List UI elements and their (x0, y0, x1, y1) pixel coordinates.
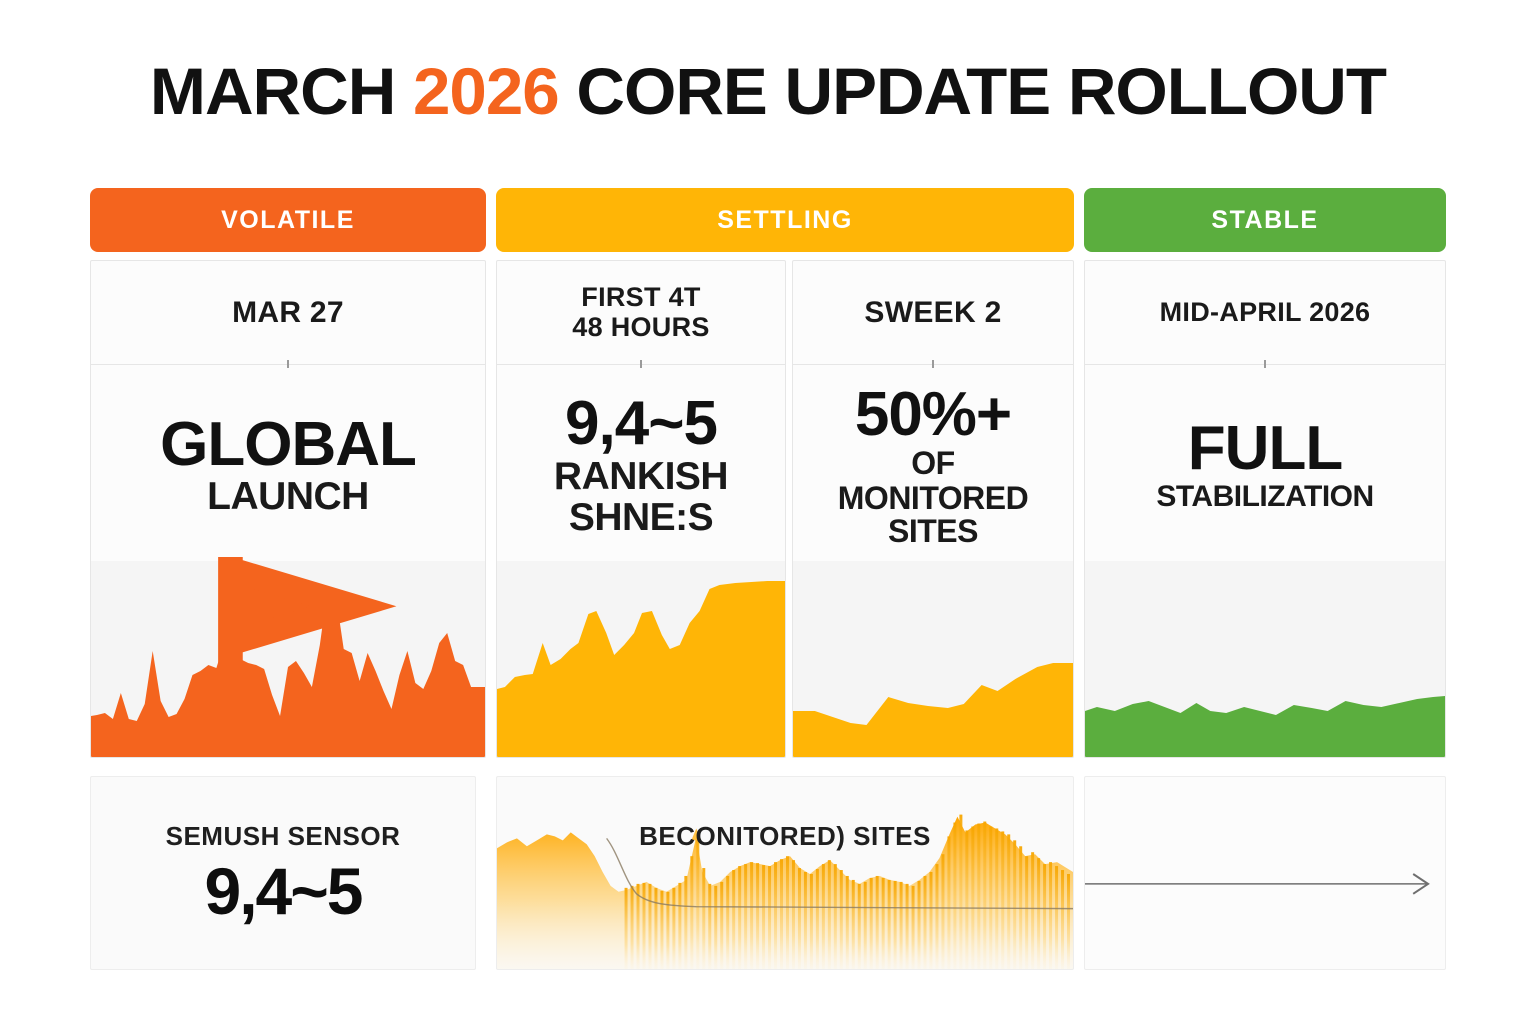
volatile-sparkline (91, 561, 485, 758)
title-part-1: MARCH (150, 54, 413, 128)
column-first-48-hours[interactable]: FIRST 4T 48 HOURS 9,4~5 RANKISH SHNE:S (496, 260, 786, 758)
column-metric-primary: 50%+ (855, 385, 1011, 446)
column-date-cell: SWEEK 2 (793, 261, 1073, 365)
phase-pill-settling-label: SETTLING (717, 206, 853, 235)
bottom-card-title: SEMUSH SENSOR (91, 821, 475, 852)
column-date-label: MID-APRIL 2026 (1160, 298, 1371, 328)
bottom-card-semrush-sensor[interactable]: SEMUSH SENSOR 9,4~5 (90, 776, 476, 970)
column-metric-secondary: OF (911, 447, 954, 480)
column-metric-secondary: RANKISH (554, 457, 728, 497)
column-metric-cell: 9,4~5 RANKISH SHNE:S (497, 365, 785, 561)
title-accent-year: 2026 (413, 54, 559, 128)
column-metric-primary: 9,4~5 (565, 394, 717, 455)
settling-sparkline (497, 561, 785, 758)
column-metric-tertiary: SHNE:S (569, 498, 713, 538)
bottom-card-row: SEMUSH SENSOR 9,4~5 (90, 776, 1446, 970)
column-week-2[interactable]: SWEEK 2 50%+ OF MONITORED SITES (792, 260, 1074, 758)
column-metric-cell: GLOBAL LAUNCH (91, 365, 485, 561)
tick-marker-icon (640, 360, 642, 368)
column-date-cell: MAR 27 (91, 261, 485, 365)
tick-marker-icon (1264, 360, 1266, 368)
column-metric-primary: FULL (1188, 419, 1342, 480)
bottom-card-timeline-arrow[interactable] (1084, 776, 1446, 970)
column-date-label: FIRST 4T (572, 283, 709, 313)
phase-pill-settling[interactable]: SETTLING (496, 188, 1074, 252)
column-metric-primary: GLOBAL (160, 415, 416, 476)
column-metric-cell: 50%+ OF MONITORED SITES (793, 365, 1073, 561)
tick-marker-icon (932, 360, 934, 368)
rollout-board: VOLATILE SETTLING STABLE MAR 27 GLOBAL L… (90, 188, 1446, 970)
column-metric-cell: FULL STABILIZATION (1085, 365, 1445, 561)
column-metric-secondary: STABILIZATION (1156, 482, 1373, 513)
phase-header-row: VOLATILE SETTLING STABLE (90, 188, 1446, 252)
page-title: MARCH 2026 CORE UPDATE ROLLOUT (0, 58, 1536, 124)
monitored-sites-volatility-chart (497, 777, 1073, 969)
column-date-cell: MID-APRIL 2026 (1085, 261, 1445, 365)
phase-pill-stable[interactable]: STABLE (1084, 188, 1446, 252)
column-date-label: MAR 27 (232, 296, 344, 329)
phase-pill-volatile-label: VOLATILE (221, 206, 355, 235)
column-metric-tertiary: MONITORED SITES (799, 482, 1067, 547)
bottom-card-value: 9,4~5 (91, 853, 475, 929)
column-date-cell: FIRST 4T 48 HOURS (497, 261, 785, 365)
title-part-2: CORE UPDATE ROLLOUT (559, 54, 1386, 128)
bottom-card-monitored-sites[interactable]: BECONITORED) SITES (496, 776, 1074, 970)
phase-pill-stable-label: STABLE (1211, 206, 1318, 235)
stable-sparkline (1085, 561, 1445, 758)
timeline-arrow-icon (1085, 777, 1445, 969)
tick-marker-icon (287, 360, 289, 368)
column-mar-27[interactable]: MAR 27 GLOBAL LAUNCH (90, 260, 486, 758)
column-date-label: SWEEK 2 (864, 296, 1001, 329)
flag-marker-icon (95, 557, 486, 754)
column-metric-secondary: LAUNCH (207, 477, 369, 517)
column-date-label-line2: 48 HOURS (572, 313, 709, 343)
week2-sparkline (793, 561, 1073, 758)
bottom-card-title: BECONITORED) SITES (497, 821, 1073, 852)
column-mid-april[interactable]: MID-APRIL 2026 FULL STABILIZATION (1084, 260, 1446, 758)
phase-pill-volatile[interactable]: VOLATILE (90, 188, 486, 252)
